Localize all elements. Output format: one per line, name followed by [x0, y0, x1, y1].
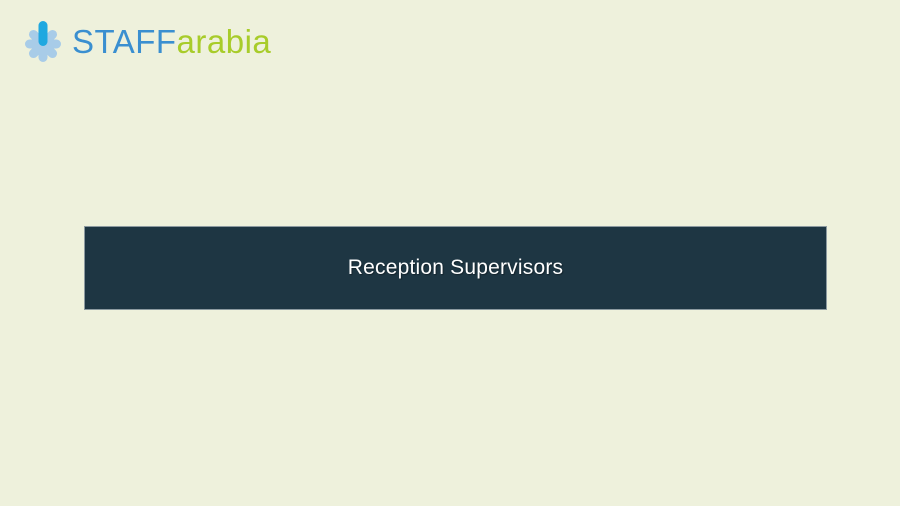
- slide-title: Reception Supervisors: [348, 255, 563, 280]
- wordmark-staff: STAFF: [72, 25, 177, 58]
- snowflake-asterisk-icon: [20, 17, 66, 65]
- title-band: Reception Supervisors: [84, 226, 827, 310]
- brand-wordmark: STAFF arabia: [72, 25, 271, 58]
- slide-canvas: STAFF arabia Reception Supervisors: [0, 0, 900, 506]
- wordmark-arabia: arabia: [177, 25, 272, 58]
- brand-logo[interactable]: STAFF arabia: [20, 16, 271, 66]
